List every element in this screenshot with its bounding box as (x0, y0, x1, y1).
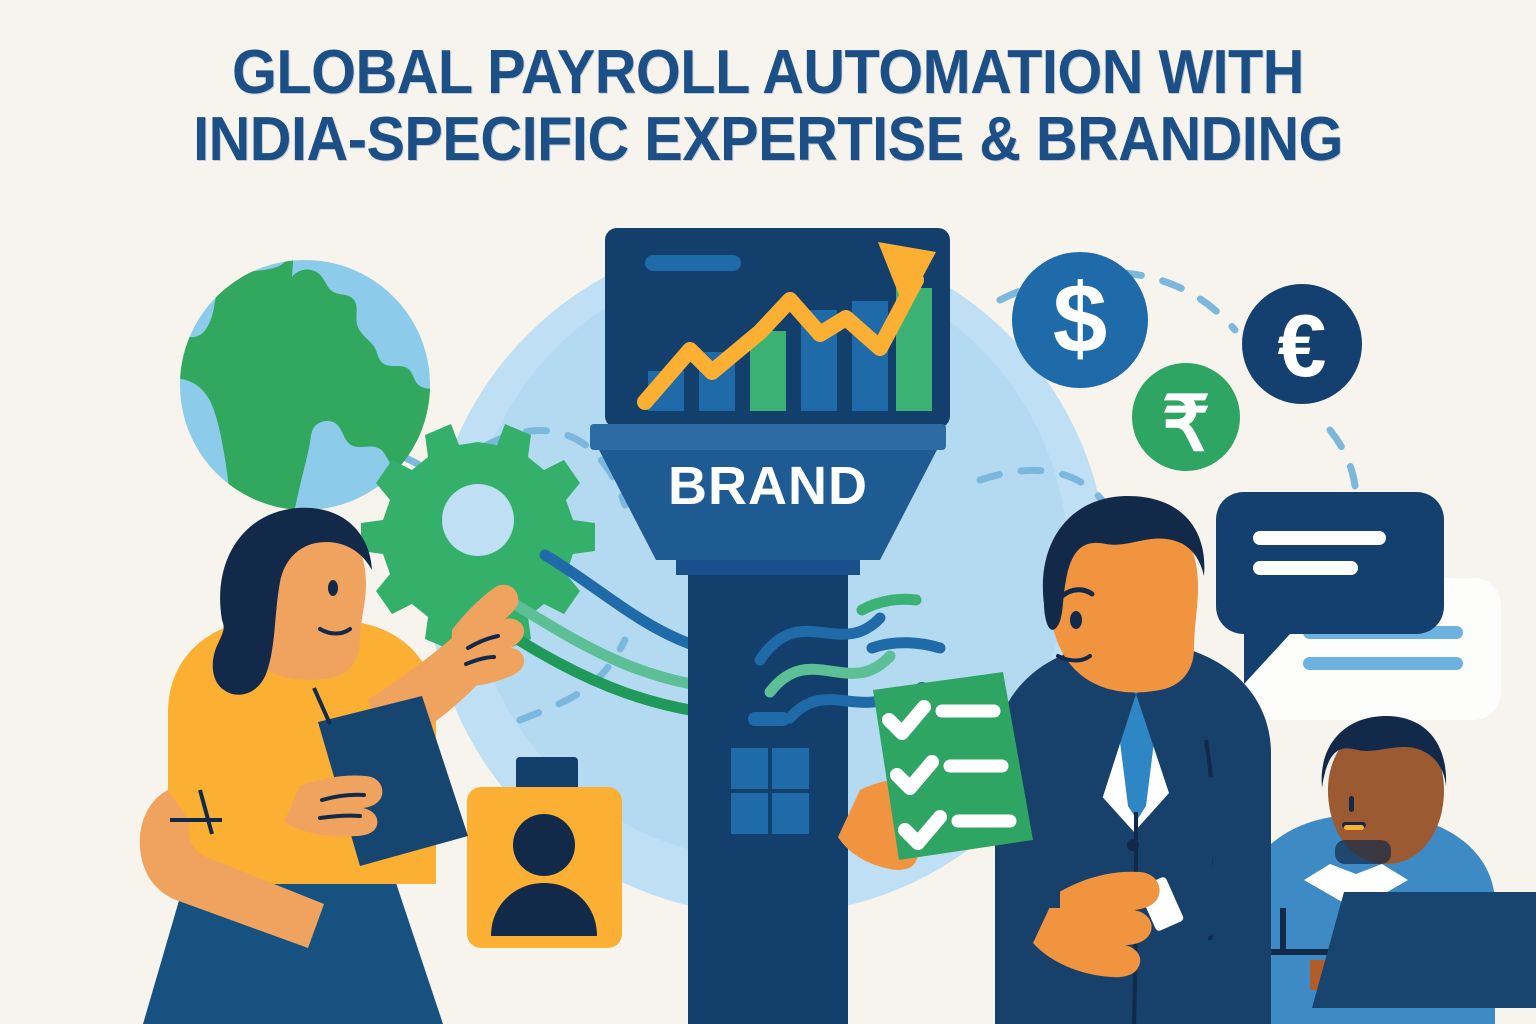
dashboard-screen (590, 228, 950, 448)
coin-inr: ₹ (1132, 363, 1240, 471)
svg-text:$: $ (1053, 263, 1108, 373)
pillar-slot (748, 712, 790, 726)
infographic-canvas: $ ₹ € (0, 0, 1536, 1024)
coin-usd: $ (1012, 252, 1148, 388)
screen-title-bar (645, 255, 741, 271)
illustration-artboard: $ ₹ € (0, 0, 1536, 1024)
coin-eur: € (1242, 284, 1362, 404)
svg-text:€: € (1278, 296, 1327, 395)
svg-text:₹: ₹ (1162, 382, 1210, 467)
